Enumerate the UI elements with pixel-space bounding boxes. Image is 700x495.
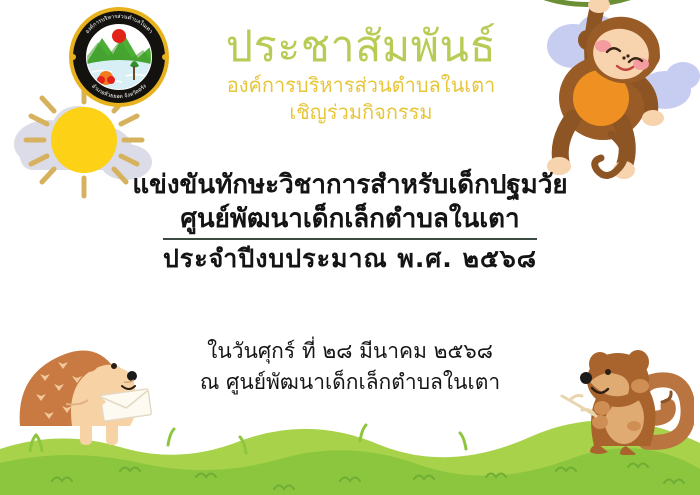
event-location: ณ ศูนย์พัฒนาเด็กเล็กตำบลในเตา <box>90 367 610 398</box>
event-date: ในวันศุกร์ ที่ ๒๘ มีนาคม ๒๕๖๘ <box>90 336 610 367</box>
fiscal-year: ประจำปีงบประมาณ พ.ศ. ๒๕๖๘ <box>50 243 650 275</box>
divider-rule <box>163 238 537 240</box>
monkey-illustration <box>525 0 700 184</box>
body-text-block: แข่งขันทักษะวิชาการสำหรับเด็กปฐมวัย ศูนย… <box>50 168 650 275</box>
event-venue-name: ศูนย์พัฒนาเด็กเล็กตำบลในเตา <box>50 202 650 236</box>
organization-seal: องค์การบริหารส่วนตำบลในเตา อำเภอห้วยยอด … <box>68 6 170 108</box>
poster-title: ประชาสัมพันธ์ <box>176 22 546 72</box>
grass-band <box>0 405 700 495</box>
event-name: แข่งขันทักษะวิชาการสำหรับเด็กปฐมวัย <box>50 168 650 202</box>
footer-text-block: ในวันศุกร์ ที่ ๒๘ มีนาคม ๒๕๖๘ ณ ศูนย์พัฒ… <box>90 336 610 398</box>
announcement-poster: องค์การบริหารส่วนตำบลในเตา อำเภอห้วยยอด … <box>0 0 700 495</box>
header-text-block: ประชาสัมพันธ์ องค์การบริหารส่วนตำบลในเตา… <box>176 22 546 126</box>
poster-subtitle-organization: องค์การบริหารส่วนตำบลในเตา <box>176 72 546 99</box>
poster-subtitle-invitation: เชิญร่วมกิจกรรม <box>176 99 546 126</box>
